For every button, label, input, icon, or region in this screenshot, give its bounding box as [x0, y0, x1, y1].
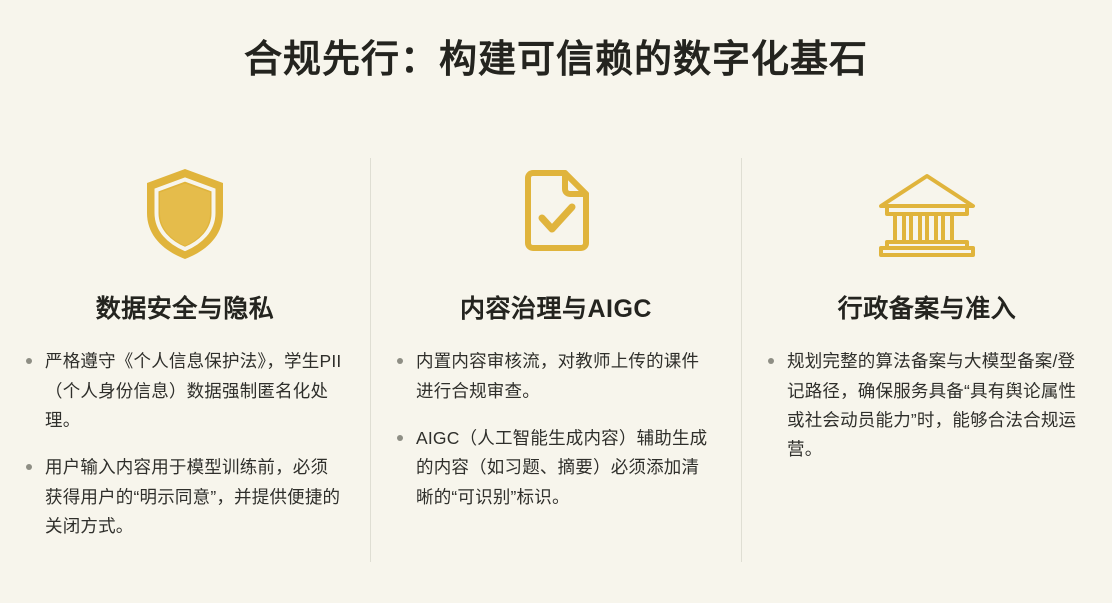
columns-container: 数据安全与隐私 严格遵守《个人信息保护法》，学生PII（个人身份信息）数据强制匿… [0, 158, 1112, 562]
bullet-dot-icon [397, 435, 403, 441]
column-data-security: 数据安全与隐私 严格遵守《个人信息保护法》，学生PII（个人身份信息）数据强制匿… [0, 158, 370, 562]
bullet-dot-icon [26, 464, 32, 470]
bullet-list: 严格遵守《个人信息保护法》，学生PII（个人身份信息）数据强制匿名化处理。 用户… [26, 347, 344, 541]
column-content-governance: 内容治理与AIGC 内置内容审核流，对教师上传的课件进行合规审查。 AIGC（人… [371, 158, 741, 562]
bullet-list: 内置内容审核流，对教师上传的课件进行合规审查。 AIGC（人工智能生成内容）辅助… [397, 347, 715, 512]
bullet-text: 用户输入内容用于模型训练前，必须获得用户的“明示同意”，并提供便捷的关闭方式。 [45, 453, 344, 541]
slide-root: 合规先行：构建可信赖的数字化基石 数据安全与隐私 严格遵守《个人信息保护法》，学… [0, 0, 1112, 603]
column-heading: 行政备案与准入 [838, 294, 1017, 325]
page-title: 合规先行：构建可信赖的数字化基石 [0, 38, 1112, 84]
bullet-list: 规划完整的算法备案与大模型备案/登记路径，确保服务具备“具有舆论属性或社会动员能… [768, 347, 1086, 465]
list-item: AIGC（人工智能生成内容）辅助生成的内容（如习题、摘要）必须添加清晰的“可识别… [397, 424, 715, 512]
shield-icon [143, 164, 227, 264]
bullet-dot-icon [26, 358, 32, 364]
bullet-text: 严格遵守《个人信息保护法》，学生PII（个人身份信息）数据强制匿名化处理。 [45, 347, 344, 435]
column-heading: 内容治理与AIGC [460, 294, 652, 325]
bullet-text: 内置内容审核流，对教师上传的课件进行合规审查。 [416, 347, 715, 406]
column-heading: 数据安全与隐私 [96, 294, 275, 325]
list-item: 用户输入内容用于模型训练前，必须获得用户的“明示同意”，并提供便捷的关闭方式。 [26, 453, 344, 541]
bullet-text: AIGC（人工智能生成内容）辅助生成的内容（如习题、摘要）必须添加清晰的“可识别… [416, 424, 715, 512]
document-check-icon [516, 164, 596, 264]
bullet-text: 规划完整的算法备案与大模型备案/登记路径，确保服务具备“具有舆论属性或社会动员能… [787, 347, 1086, 465]
institution-icon [875, 164, 979, 264]
column-administrative-filing: 行政备案与准入 规划完整的算法备案与大模型备案/登记路径，确保服务具备“具有舆论… [742, 158, 1112, 562]
bullet-dot-icon [397, 358, 403, 364]
bullet-dot-icon [768, 358, 774, 364]
list-item: 内置内容审核流，对教师上传的课件进行合规审查。 [397, 347, 715, 406]
list-item: 严格遵守《个人信息保护法》，学生PII（个人身份信息）数据强制匿名化处理。 [26, 347, 344, 435]
list-item: 规划完整的算法备案与大模型备案/登记路径，确保服务具备“具有舆论属性或社会动员能… [768, 347, 1086, 465]
